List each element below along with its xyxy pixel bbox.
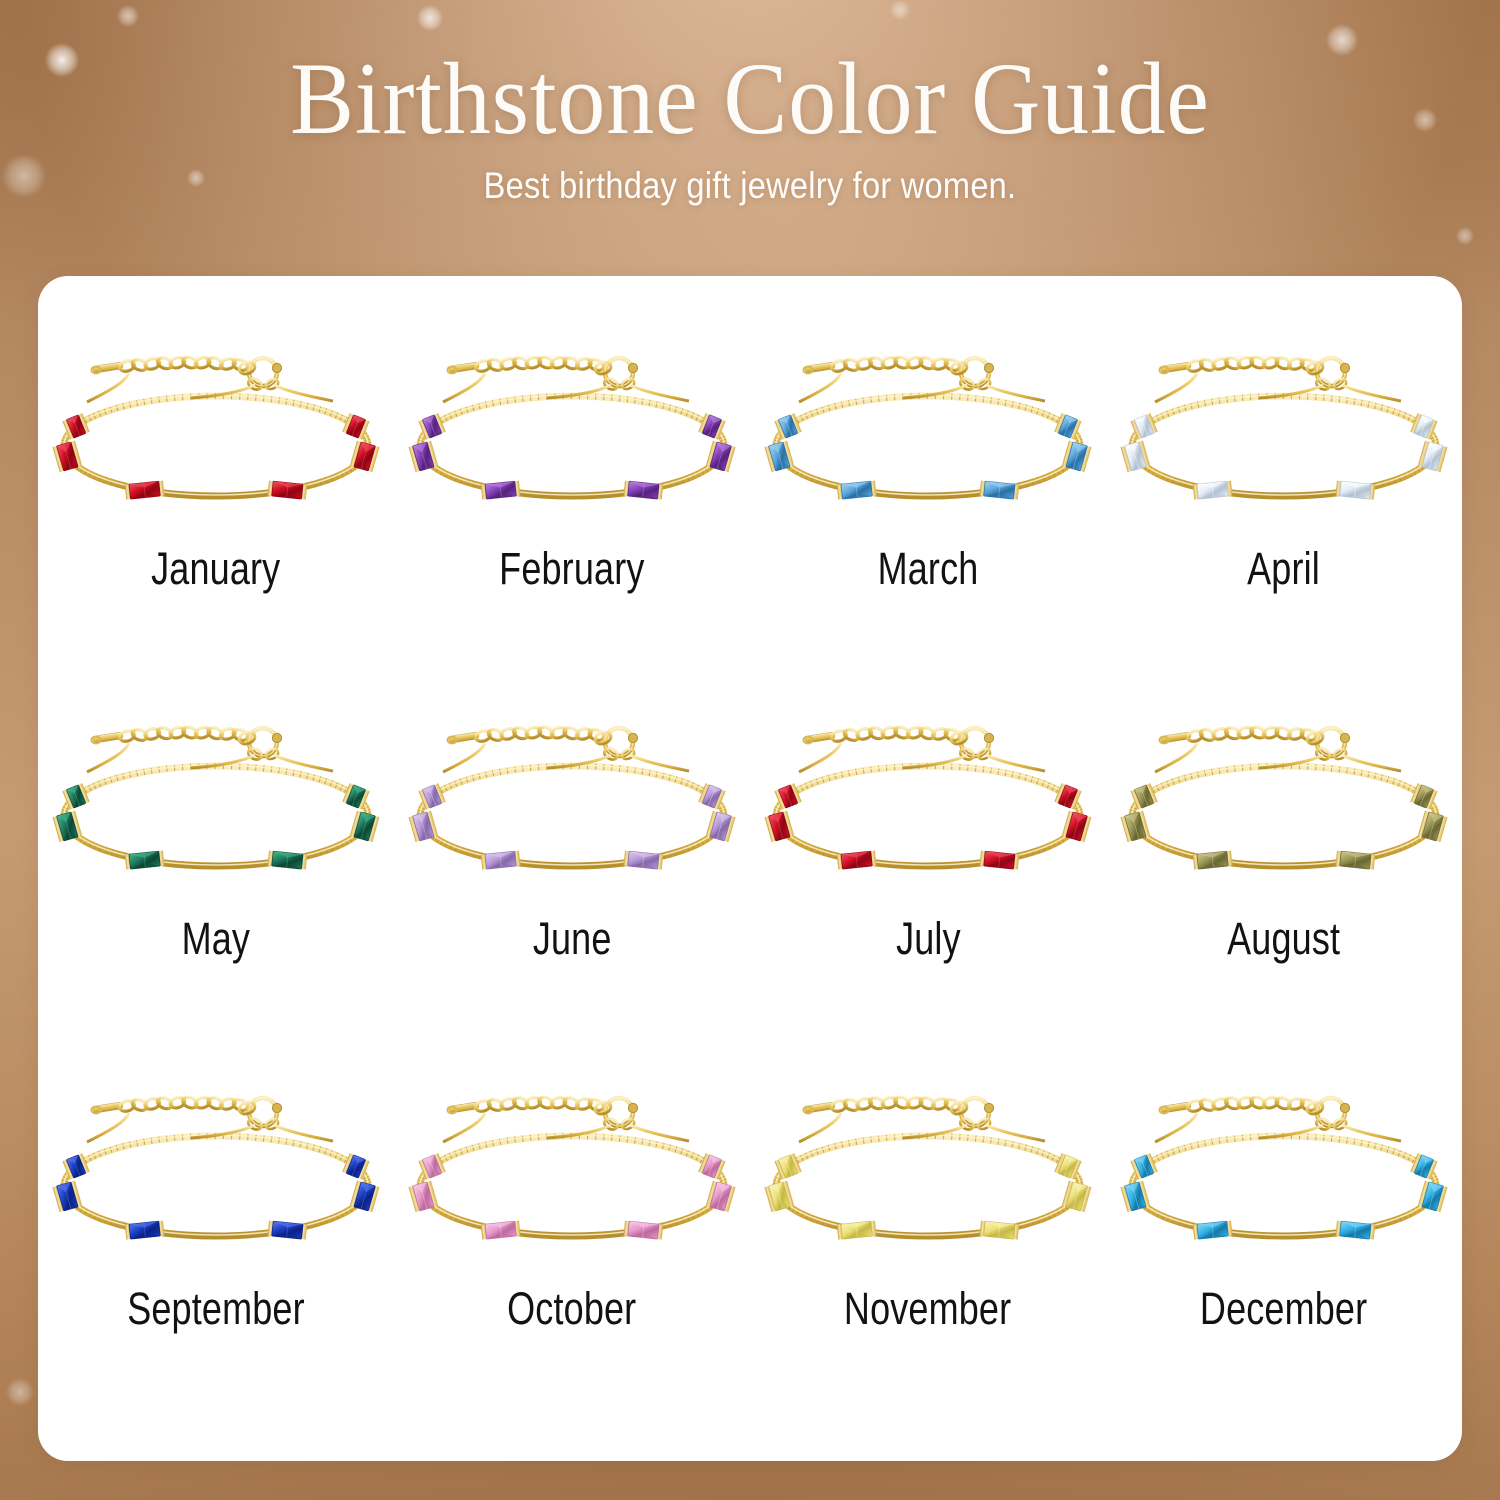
gemstone-station: [481, 1221, 521, 1240]
bracelet-image: [397, 1068, 747, 1253]
chain-highlight: [776, 765, 1080, 865]
month-label: July: [896, 913, 961, 965]
extender-chain: [1155, 725, 1401, 772]
month-label: August: [1227, 913, 1340, 965]
month-label: January: [151, 543, 280, 595]
bracelet-image: [753, 328, 1103, 513]
chain-strand: [1155, 743, 1197, 772]
birthstone-cell-february: February: [394, 328, 750, 698]
gemstone-station: [623, 851, 663, 870]
month-label: November: [844, 1283, 1011, 1335]
birthstone-cell-may: May: [38, 698, 394, 1068]
chain-strand: [1155, 373, 1197, 402]
chain-highlight: [420, 395, 724, 495]
extender-chain: [799, 725, 1045, 772]
chain-highlight: [1132, 1135, 1436, 1235]
month-label: December: [1200, 1283, 1367, 1335]
chain-highlight: [1132, 395, 1436, 495]
month-label: June: [533, 913, 612, 965]
chain-highlight: [64, 395, 368, 495]
birthstone-cell-july: July: [750, 698, 1106, 1068]
birthstone-cell-october: October: [394, 1068, 750, 1438]
bokeh-dot: [1456, 227, 1474, 245]
gemstone-station: [481, 481, 521, 500]
month-label: March: [878, 543, 979, 595]
infographic-page: Birthstone Color Guide Best birthday gif…: [0, 0, 1500, 1500]
chain-strand: [87, 1113, 129, 1142]
gemstone-station: [1335, 481, 1375, 500]
bracelet-image: [753, 698, 1103, 883]
extender-chain: [443, 355, 689, 402]
extender-chain: [1155, 1095, 1401, 1142]
extender-chain: [799, 355, 1045, 402]
bracelet-image: [397, 328, 747, 513]
birthstone-cell-june: June: [394, 698, 750, 1068]
extender-chain: [87, 355, 333, 402]
chain-strand: [799, 743, 841, 772]
chain-highlight: [64, 1135, 368, 1235]
gemstone-station: [979, 1221, 1019, 1240]
extender-chain: [443, 1095, 689, 1142]
gemstone-station: [1193, 851, 1233, 870]
birthstone-cell-january: January: [38, 328, 394, 698]
extender-chain: [799, 1095, 1045, 1142]
month-label: April: [1248, 543, 1321, 595]
chain-strand: [443, 1113, 485, 1142]
gemstone-station: [267, 481, 307, 500]
page-title: Birthstone Color Guide: [53, 0, 1448, 153]
birthstone-cell-august: August: [1106, 698, 1462, 1068]
gemstone-station: [267, 851, 307, 870]
bracelet-image: [41, 328, 391, 513]
bracelet-image: [1109, 328, 1459, 513]
chain-strand: [799, 373, 841, 402]
chain-highlight: [64, 765, 368, 865]
chain-strand: [799, 1113, 841, 1142]
gemstone-station: [125, 851, 165, 870]
month-label: May: [182, 913, 251, 965]
gemstone-station: [623, 1221, 663, 1240]
chain-highlight: [1132, 765, 1436, 865]
chain-highlight: [420, 765, 724, 865]
gemstone-station: [623, 481, 663, 500]
gemstone-station: [837, 481, 877, 500]
chain-strand: [443, 373, 485, 402]
header: Birthstone Color Guide Best birthday gif…: [0, 0, 1500, 207]
month-label: September: [127, 1283, 305, 1335]
gemstone-station: [267, 1221, 307, 1240]
bracelet-image: [41, 698, 391, 883]
month-label: October: [507, 1283, 636, 1335]
extender-chain: [87, 1095, 333, 1142]
chain-highlight: [420, 1135, 724, 1235]
chain-strand: [1155, 1113, 1197, 1142]
chain-highlight: [776, 395, 1080, 495]
bracelet-image: [41, 1068, 391, 1253]
birthstone-cell-september: September: [38, 1068, 394, 1438]
bracelet-image: [397, 698, 747, 883]
extender-chain: [87, 725, 333, 772]
bokeh-dot: [6, 1378, 34, 1406]
gemstone-station: [837, 851, 877, 870]
chain-strand: [87, 743, 129, 772]
gemstone-station: [1193, 1221, 1233, 1240]
extender-chain: [1155, 355, 1401, 402]
gemstone-station: [837, 1221, 877, 1240]
gemstone-station: [979, 851, 1019, 870]
bracelet-image: [1109, 698, 1459, 883]
gemstone-station: [125, 1221, 165, 1240]
gemstone-station: [1335, 851, 1375, 870]
page-subtitle: Best birthday gift jewelry for women.: [90, 165, 1410, 207]
chain-strand: [87, 373, 129, 402]
birthstone-cell-december: December: [1106, 1068, 1462, 1438]
extender-chain: [443, 725, 689, 772]
gemstone-station: [125, 481, 165, 500]
month-label: February: [499, 543, 644, 595]
birthstone-cell-march: March: [750, 328, 1106, 698]
gemstone-station: [979, 481, 1019, 500]
birthstone-cell-november: November: [750, 1068, 1106, 1438]
gemstone-station: [1335, 1221, 1375, 1240]
birthstone-cell-april: April: [1106, 328, 1462, 698]
bracelet-image: [753, 1068, 1103, 1253]
birthstone-card: JanuaryFebruaryMarchAprilMayJuneJulyAugu…: [38, 276, 1462, 1461]
chain-strand: [443, 743, 485, 772]
bracelet-image: [1109, 1068, 1459, 1253]
chain-highlight: [776, 1135, 1080, 1235]
birthstone-grid: JanuaryFebruaryMarchAprilMayJuneJulyAugu…: [38, 328, 1462, 1438]
gemstone-station: [481, 851, 521, 870]
gemstone-station: [1193, 481, 1233, 500]
